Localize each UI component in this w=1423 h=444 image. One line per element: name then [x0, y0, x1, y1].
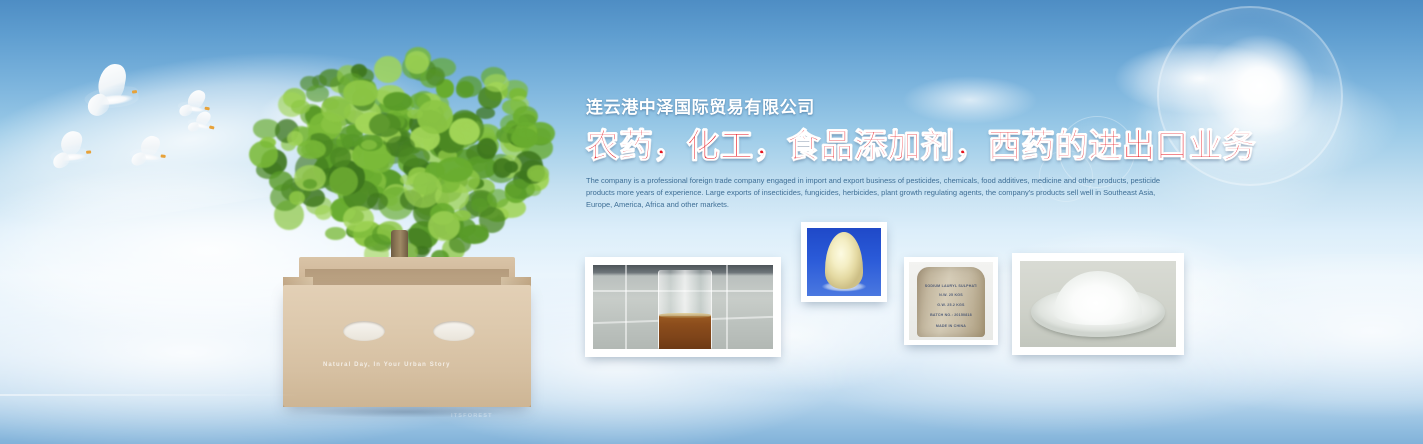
tree-foliage-cluster [487, 189, 509, 208]
photo-inner [593, 265, 773, 349]
tree-foliage-cluster [374, 56, 402, 83]
dove-body [187, 117, 213, 132]
dove-beak [204, 107, 209, 111]
dove-icon-4 [46, 134, 92, 169]
light-streak [0, 394, 300, 396]
kraft-sack: SODIUM LAURYL SULPHATE N.W. 25 KGS G.W. … [917, 267, 986, 337]
dove-beak [209, 125, 215, 129]
tree-foliage-cluster [315, 205, 333, 221]
tree-foliage-cluster [404, 172, 441, 208]
dove-wing [187, 122, 199, 132]
sack-label-gross-weight: G.W. 25.2 KGS [925, 303, 977, 307]
dove-icon-2 [174, 90, 211, 120]
dove-wing [96, 62, 128, 104]
tree-foliage-cluster [526, 184, 541, 196]
dove-wing [138, 133, 162, 159]
amber-liquid [659, 316, 711, 349]
tree-foliage-cluster [297, 140, 325, 159]
dove-body [84, 85, 140, 111]
dove-wing [185, 87, 208, 112]
dove-wing [178, 103, 194, 117]
box-slogan: Natural Day, In Your Urban Story [323, 362, 451, 368]
tree-foliage-cluster [367, 193, 388, 211]
hero-banner: Natural Day, In Your Urban Story ITSFORE… [0, 0, 1423, 444]
tree-foliage-cluster [493, 158, 512, 177]
dove-beak [132, 90, 137, 94]
tree-foliage-cluster [417, 100, 453, 133]
sack-label-batch: BATCH NO.: 20150818 [925, 313, 977, 317]
tree-foliage-cluster [456, 81, 474, 97]
dove-icon-5 [127, 136, 168, 168]
tile-grout-line [726, 265, 728, 349]
tree-foliage-cluster [343, 206, 374, 233]
tree-foliage-cluster [329, 167, 358, 196]
dove-body [129, 147, 164, 163]
dove-wing [130, 151, 148, 167]
tree-foliage-cluster [291, 100, 310, 114]
dove-icon-1 [76, 69, 142, 117]
tree-foliage-cluster [369, 113, 401, 137]
photo-inner [1020, 261, 1176, 347]
dove-beak [86, 150, 91, 153]
tree-foliage-cluster [330, 147, 352, 168]
tree-foliage-cluster [325, 227, 346, 241]
tree-in-box-illustration: Natural Day, In Your Urban Story ITSFORE… [255, 42, 555, 372]
box-ground-shadow [265, 404, 547, 420]
product-photo-sack[interactable]: SODIUM LAURYL SULPHATE N.W. 25 KGS G.W. … [904, 257, 998, 345]
dove-wing [194, 109, 213, 129]
product-photo-brown-liquid-jar[interactable] [585, 257, 781, 357]
dove-body [177, 100, 208, 115]
dove-beak [161, 154, 166, 158]
tree-foliage-cluster [361, 140, 377, 150]
tree-foliage-cluster [527, 165, 548, 182]
intro-paragraph: The company is a professional foreign tr… [586, 175, 1174, 210]
box-handle-left [343, 321, 385, 341]
dove-wing [84, 91, 113, 120]
company-name: 连云港中泽国际贸易有限公司 [586, 98, 1186, 118]
photo-inner: SODIUM LAURYL SULPHATE N.W. 25 KGS G.W. … [909, 262, 993, 340]
dove-wing [59, 129, 84, 157]
tree-foliage-cluster [453, 210, 471, 221]
page-title: 农药，化工，食品添加剂，西药的进出口业务 [586, 127, 1186, 165]
tree-foliage-cluster [306, 85, 329, 101]
tree-foliage-cluster [459, 225, 489, 245]
sack-label-origin: MADE IN CHINA [925, 324, 977, 328]
tree-foliage-cluster [405, 51, 428, 74]
dove-wing [50, 150, 72, 171]
sack-label-product: SODIUM LAURYL SULPHATE [925, 284, 977, 288]
tree-foliage-cluster [383, 92, 413, 111]
banner-text-block: 连云港中泽国际贸易有限公司 农药，化工，食品添加剂，西药的进出口业务 The c… [586, 98, 1186, 210]
box-front-panel: Natural Day, In Your Urban Story ITSFORE… [283, 285, 531, 407]
cardboard-box: Natural Day, In Your Urban Story ITSFORE… [283, 257, 531, 407]
tile-grout-line [625, 265, 627, 349]
tree-foliage-cluster [511, 128, 538, 148]
product-photo-yellow-powder[interactable] [801, 222, 887, 302]
dove-icon-3 [184, 109, 216, 137]
product-photo-white-powder[interactable] [1012, 253, 1184, 355]
photo-inner [807, 228, 881, 296]
tree-foliage-cluster [398, 147, 430, 167]
dove-body [50, 147, 91, 165]
glass-jar [658, 270, 712, 349]
tree-foliage-cluster [287, 131, 302, 146]
box-handle-right [433, 321, 475, 341]
sack-label-net-weight: N.W. 25 KGS [925, 293, 977, 297]
